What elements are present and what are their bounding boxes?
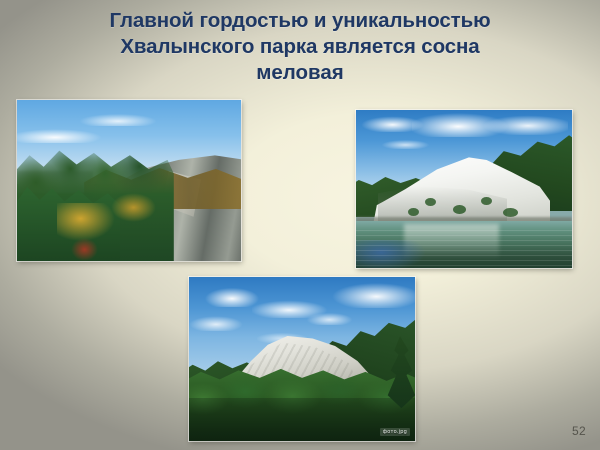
water-ripples xyxy=(356,230,572,268)
slide-title-line-3: меловая xyxy=(22,60,578,86)
cliff-scene xyxy=(17,100,241,261)
hill-scene: фото.jpg xyxy=(189,277,415,441)
cloud-shape xyxy=(382,140,430,149)
cloud-shape xyxy=(17,129,102,143)
slide-title-line-2: Хвалынского парка является сосна xyxy=(22,34,578,60)
lake-scene xyxy=(356,110,572,268)
slide-title-line-1: Главной гордостью и уникальностью xyxy=(22,8,578,34)
slide-title: Главной гордостью и уникальностью Хвалын… xyxy=(22,8,578,86)
photo-chalk-cliff-with-pines xyxy=(17,100,241,261)
photo-watermark: фото.jpg xyxy=(380,428,410,436)
red-foliage xyxy=(71,238,98,261)
autumn-foliage xyxy=(111,193,156,222)
presentation-slide: Главной гордостью и уникальностью Хвалын… xyxy=(0,0,600,450)
cloud-shape xyxy=(189,316,243,331)
shrub xyxy=(408,208,419,216)
shrub xyxy=(481,197,492,205)
cloud-shape xyxy=(80,114,156,125)
cloud-shape xyxy=(481,115,567,136)
slide-number: 52 xyxy=(572,424,586,438)
photo-chalk-hill-with-forest: фото.jpg xyxy=(189,277,415,441)
photo-chalk-hill-over-lake xyxy=(356,110,572,268)
cloud-shape xyxy=(329,282,415,308)
autumn-foliage xyxy=(57,203,115,242)
cloud-shape xyxy=(307,313,352,324)
